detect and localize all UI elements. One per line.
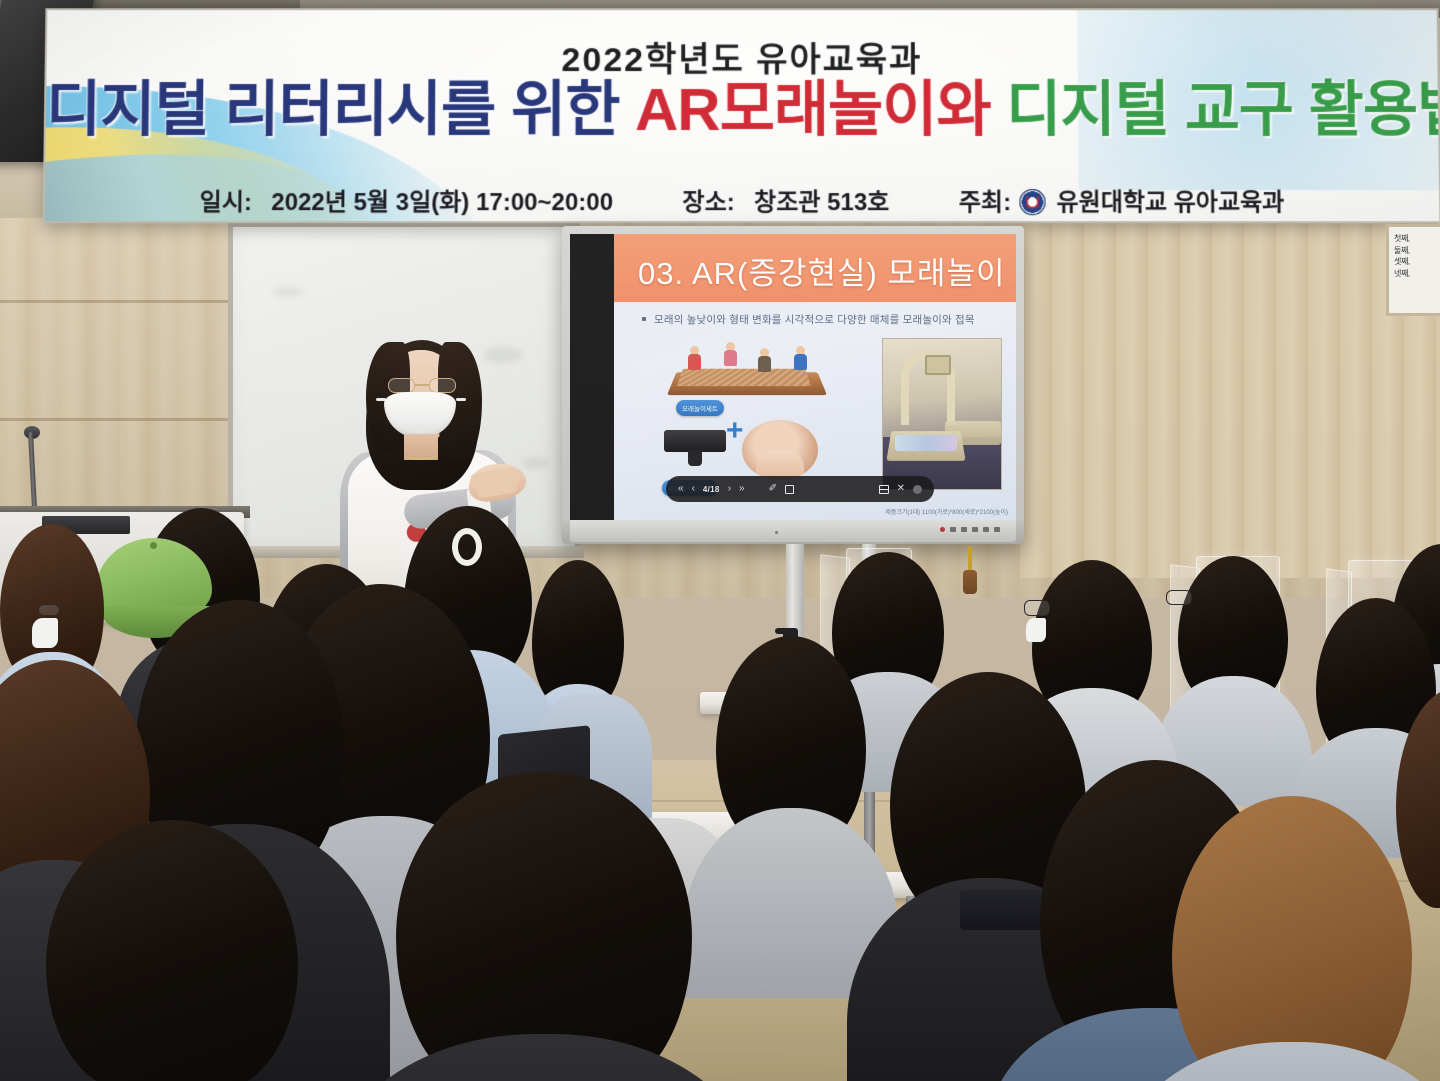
banner-date-label: 일시: xyxy=(200,182,253,217)
cap-button xyxy=(150,542,157,549)
slide-title: 03. AR(증강현실) 모래놀이 xyxy=(638,248,1005,293)
display-button[interactable] xyxy=(983,527,989,532)
audience-member xyxy=(1178,556,1288,706)
label-sandplay-set: 모래놀이세트 xyxy=(676,400,724,416)
sensor-device-illustration xyxy=(664,430,726,452)
wall-poster: 첫째, 둘째, 셋째, 넷째, xyxy=(1386,224,1440,316)
close-icon[interactable]: ✕ xyxy=(897,484,905,494)
display-chin xyxy=(570,520,1016,542)
slide-bullet-text: 모래의 높낮이와 형태 변화를 시각적으로 다양한 매체를 모래놀이와 접목 xyxy=(654,314,975,326)
audience-face-mask xyxy=(32,618,58,648)
last-slide-button[interactable]: » xyxy=(739,484,745,494)
hands-in-sand-photo xyxy=(742,420,818,480)
banner-host-value: 유원대학교 유아교육과 xyxy=(1056,182,1284,217)
hanging-tassel-decoration xyxy=(968,546,972,572)
banner-place-label: 장소: xyxy=(682,182,734,217)
lecturer-glasses xyxy=(388,378,456,393)
pen-tool-icon[interactable]: ✐ xyxy=(769,484,777,494)
lecturer-necklace xyxy=(404,450,438,460)
audience-member xyxy=(532,560,624,710)
presentation-slide: 03. AR(증강현실) 모래놀이 모래의 높낮이와 형태 변화를 시각적으로 … xyxy=(614,234,1016,520)
poster-line: 둘째, xyxy=(1394,245,1438,257)
banner-title-part-1: 디지털 리터리시를 위한 xyxy=(46,76,635,143)
audience-glasses xyxy=(38,604,60,616)
previous-slide-button[interactable]: ‹ xyxy=(692,484,695,494)
next-slide-button[interactable]: › xyxy=(728,484,731,494)
slide-bullet: 모래의 높낮이와 형태 변화를 시각적으로 다양한 매체를 모래놀이와 접목 xyxy=(642,312,1006,327)
first-slide-button[interactable]: « xyxy=(678,484,684,494)
audience-member-foreground xyxy=(1172,796,1412,1081)
poster-line: 넷째, xyxy=(1394,268,1438,280)
poster-line: 첫째, xyxy=(1394,233,1438,245)
display-bezel: 03. AR(증강현실) 모래놀이 모래의 높낮이와 형태 변화를 시각적으로 … xyxy=(570,234,1016,520)
event-banner: 2022학년도 유아교육과 디지털 리터리시를 위한 AR모래놀이와 디지털 교… xyxy=(43,8,1440,223)
child-figure xyxy=(724,342,737,366)
slide-layout-icon[interactable] xyxy=(879,485,889,494)
display-button[interactable] xyxy=(950,527,956,532)
display-button[interactable] xyxy=(972,527,978,532)
sensor-device-stand xyxy=(688,450,702,466)
display-button[interactable] xyxy=(994,527,1000,532)
child-figure xyxy=(688,346,701,370)
hair-clip xyxy=(452,528,482,566)
poster-line: 셋째, xyxy=(1394,256,1438,268)
slide-product-size-caption: 제품크기(1대) 1100(가로)*800(세로)*2100(높이) xyxy=(885,507,1008,516)
banner-info-line: 일시: 2022년 5월 3일(화) 17:00~20:00 장소: 창조관 5… xyxy=(45,182,1440,217)
ar-sandbox-room-photo xyxy=(882,338,1002,490)
right-wall xyxy=(1020,218,1440,578)
bullet-dot-icon xyxy=(642,317,646,321)
audience-member xyxy=(716,636,866,846)
banner-host-label: 주최: xyxy=(959,182,1011,217)
power-led-icon xyxy=(940,527,945,532)
banner-title: 디지털 리터리시를 위한 AR모래놀이와 디지털 교구 활용법 안내 특강 xyxy=(46,78,1439,141)
audience-glasses xyxy=(1024,600,1050,616)
child-figure xyxy=(758,348,771,372)
audience-face-mask xyxy=(1026,618,1046,642)
slide-page-indicator: 4/18 xyxy=(703,485,720,494)
lecture-hall-photo: 2022학년도 유아교육과 디지털 리터리시를 위한 AR모래놀이와 디지털 교… xyxy=(0,0,1440,1081)
banner-title-part-2: AR모래놀이와 xyxy=(635,76,1007,143)
presentation-toolbar[interactable]: « ‹ 4/18 › » ✐ ✕ xyxy=(666,476,934,502)
banner-date-value: 2022년 5월 3일(화) 17:00~20:00 xyxy=(271,182,613,217)
blank-screen-icon[interactable] xyxy=(785,485,794,494)
wall-display[interactable]: 03. AR(증강현실) 모래놀이 모래의 높낮이와 형태 변화를 시각적으로 … xyxy=(562,226,1024,544)
banner-place-value: 창조관 513호 xyxy=(754,182,889,217)
audience-member-foreground xyxy=(396,772,692,1081)
plus-icon: + xyxy=(726,416,744,446)
display-button[interactable] xyxy=(961,527,967,532)
child-figure xyxy=(794,346,807,370)
sandplay-illustration xyxy=(672,344,822,406)
more-options-icon[interactable] xyxy=(913,485,922,494)
display-left-blank-area xyxy=(570,234,614,520)
banner-title-part-3: 디지털 교구 활용법 xyxy=(1006,76,1440,143)
display-control-buttons[interactable] xyxy=(940,527,1000,532)
audience-glasses xyxy=(1166,590,1192,605)
university-emblem-icon xyxy=(1020,189,1046,215)
banner-subtitle: 2022학년도 유아교육과 xyxy=(46,32,1437,81)
display-ir-sensor xyxy=(775,531,778,534)
audience-member-foreground xyxy=(46,820,298,1081)
